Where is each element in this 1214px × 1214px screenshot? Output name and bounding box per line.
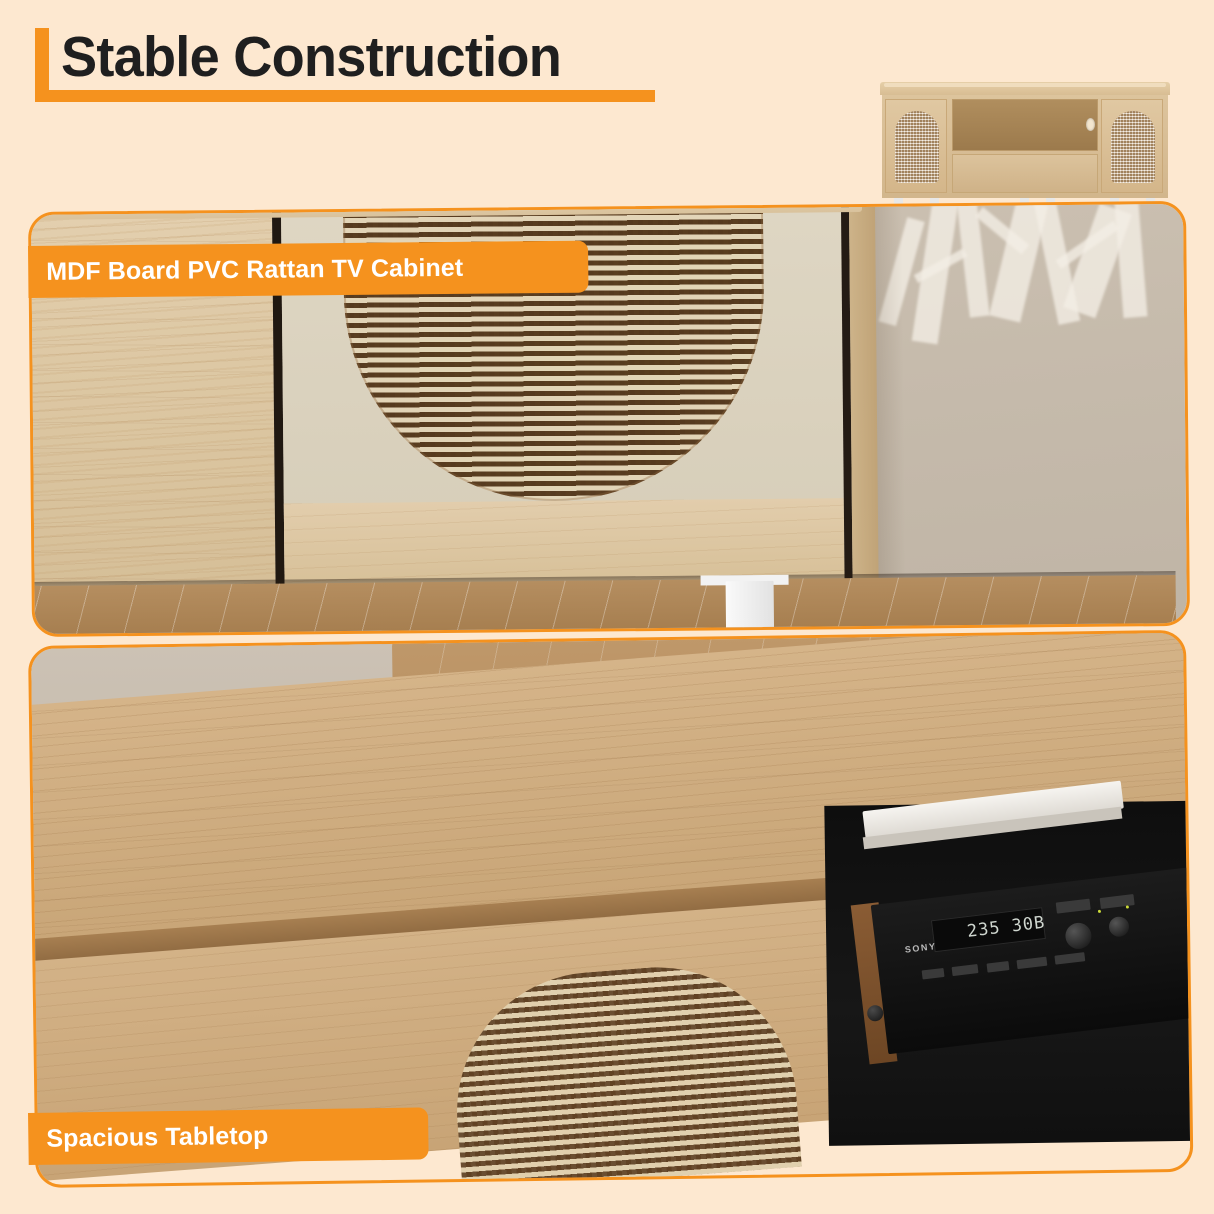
- title-bracket-horizontal: [35, 90, 655, 102]
- receiver-led-icon: [1126, 905, 1129, 908]
- thumbnail-left-rattan-door: [885, 99, 947, 193]
- cable-hole-icon: [1086, 118, 1095, 131]
- herringbone-floor: [28, 575, 1176, 637]
- thumbnail-open-shelf: [952, 99, 1098, 151]
- badge-top-label: MDF Board PVC Rattan TV Cabinet: [46, 253, 463, 286]
- receiver-led-icon: [1098, 910, 1101, 913]
- thumbnail-drawer: [952, 154, 1098, 193]
- badge-spacious-tabletop: Spacious Tabletop: [28, 1107, 429, 1165]
- thumbnail-cabinet-body: [882, 94, 1168, 198]
- cabinet-side-panel: [849, 202, 879, 584]
- infographic-canvas: Stable Construction: [0, 0, 1214, 1214]
- badge-mdf-rattan-cabinet: MDF Board PVC Rattan TV Cabinet: [28, 241, 588, 298]
- thumbnail-top-highlight: [884, 83, 1166, 87]
- photo-panel-tabletop: 235 30B SONY: [28, 630, 1193, 1188]
- badge-bottom-label: Spacious Tabletop: [46, 1121, 268, 1153]
- tabletop-closeup-photo: 235 30B SONY: [28, 630, 1193, 1188]
- white-metal-leg: [725, 581, 774, 637]
- page-title: Stable Construction: [61, 24, 561, 90]
- receiver-power-knob[interactable]: [867, 1005, 883, 1021]
- thumbnail-right-rattan-door: [1101, 99, 1163, 193]
- rattan-weave-icon: [1111, 111, 1155, 183]
- page-title-block: Stable Construction: [35, 28, 655, 106]
- rattan-weave-icon: [895, 111, 939, 183]
- rattan-tv-cabinet-thumbnail: [880, 82, 1170, 210]
- thumbnail-top-panel: [880, 82, 1170, 95]
